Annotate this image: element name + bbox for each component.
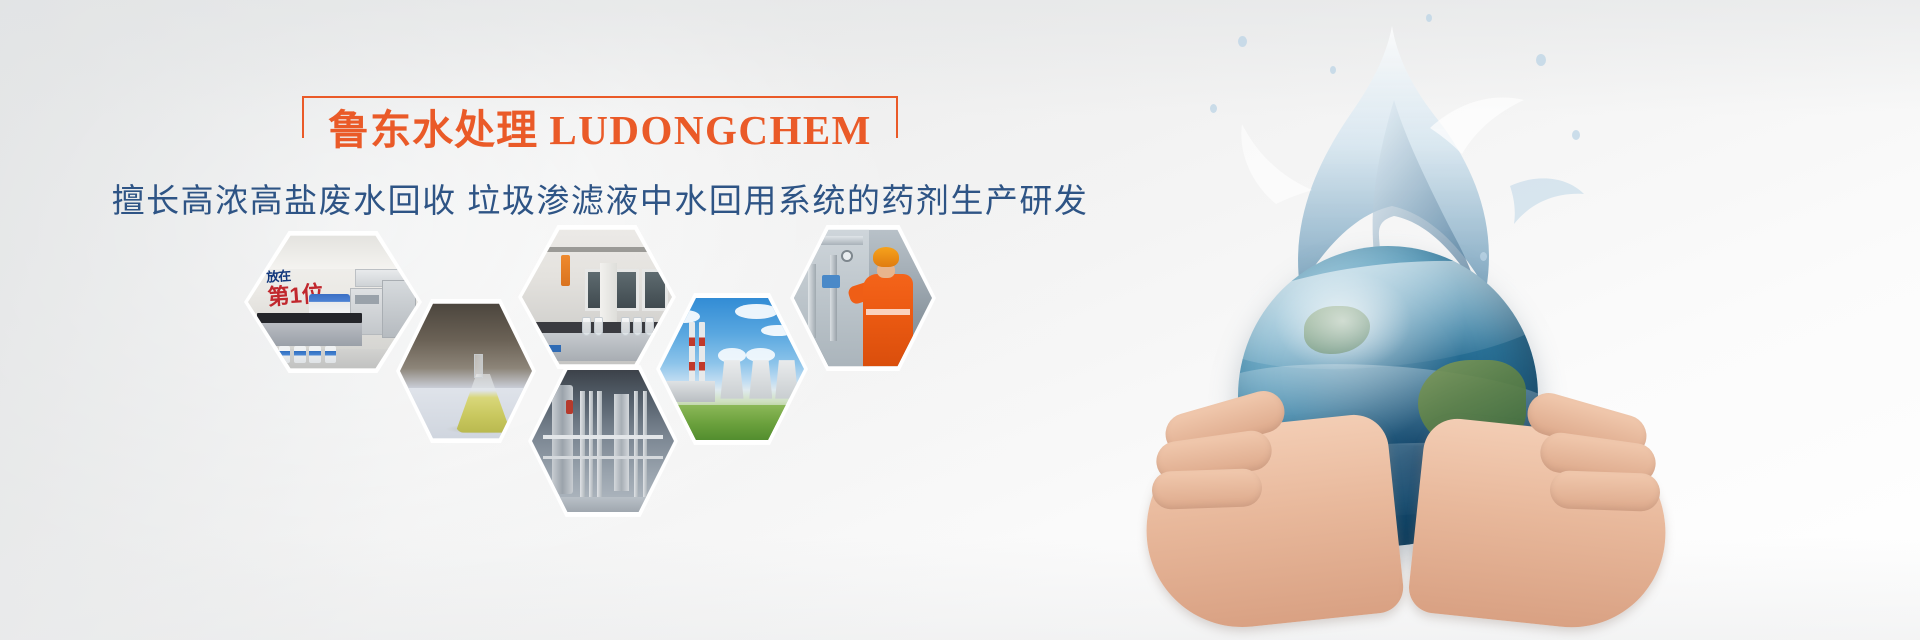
hex-lab-slogan-inner: 放在 第1位 (248, 233, 418, 371)
pipes-rail-lower (543, 456, 662, 460)
pipe-run (643, 391, 647, 498)
pipe-run (580, 391, 584, 498)
worker-pipe-horizontal (802, 236, 863, 246)
lab-jug (279, 346, 291, 363)
worker-reflective-stripe (866, 309, 910, 315)
pipe-run (597, 391, 601, 498)
worker-coverall (863, 274, 913, 369)
lab2-blue-cabinet (531, 345, 561, 352)
lab-bench-top (257, 313, 362, 323)
hex-lab-slogan-photo: 放在 第1位 (248, 233, 418, 371)
pipe-run (634, 391, 638, 498)
lab-ceiling (248, 233, 418, 269)
water-droplet (1536, 54, 1546, 66)
lab2-window (642, 269, 668, 311)
worker-safety-helmet (873, 247, 899, 267)
right-finger (1549, 470, 1660, 512)
hex-worker-photo (794, 227, 932, 369)
water-droplet (1330, 66, 1336, 74)
plant-building (666, 381, 715, 402)
worker-pipe-vertical (808, 264, 816, 338)
water-droplet (1572, 130, 1580, 140)
lab2-window (614, 269, 640, 311)
worker-pipe-vertical (830, 255, 837, 340)
hex-power-plant-inner (660, 295, 804, 443)
hex-lab-glass[interactable] (518, 222, 676, 372)
title-chinese: 鲁东水处理 (328, 107, 538, 153)
hex-pipes-inner (532, 367, 674, 515)
cooling-tower (749, 360, 772, 398)
water-droplet (1426, 14, 1432, 22)
hero-banner: 鲁东水处理 LUDONGCHEM 擅长高浓高盐废水回收 垃圾渗滤液中水回用系统的… (0, 0, 1920, 640)
cooling-tower (720, 360, 743, 398)
water-droplet (1238, 36, 1247, 47)
lab-jug (309, 346, 321, 363)
hex-flask-inner (400, 301, 532, 441)
hex-lab-slogan[interactable]: 放在 第1位 (244, 228, 422, 376)
pipe-run (589, 391, 593, 498)
hands-holding-globe (1146, 398, 1666, 640)
hex-worker[interactable] (790, 222, 936, 374)
plant-cloud (761, 325, 796, 337)
plant-green-field (660, 405, 804, 443)
hex-worker-inner (794, 227, 932, 369)
title-english: LUDONGCHEM (549, 107, 872, 153)
hex-power-plant-photo (660, 295, 804, 443)
globe-highlight (1274, 270, 1412, 372)
pipes-rail-upper (543, 435, 662, 439)
pipes-red-valve (566, 400, 573, 415)
plant-cloud (735, 304, 778, 319)
worker-blue-valve (822, 275, 840, 288)
lab2-orange-stand (561, 255, 570, 286)
plant-steam (746, 348, 775, 361)
hex-lab-glass-inner (522, 227, 672, 367)
cooling-tower (775, 360, 798, 398)
title-top-rule (324, 96, 876, 98)
lab2-ceiling-beam (522, 247, 672, 253)
banner-subtitle: 擅长高浓高盐废水回收 垃圾渗滤液中水回用系统的药剂生产研发 (0, 174, 1200, 222)
lab2-glassware (645, 317, 654, 337)
lab2-glassware (633, 317, 642, 337)
hex-flask[interactable] (396, 296, 536, 446)
lab2-glassware (594, 317, 603, 337)
lab-bench-base (257, 323, 362, 346)
flask-neck (474, 354, 483, 378)
water-droplet (1480, 252, 1487, 261)
lab-cabinet-2 (382, 280, 416, 338)
banner-text-block: 鲁东水处理 LUDONGCHEM 擅长高浓高盐废水回收 垃圾渗滤液中水回用系统的… (0, 96, 1200, 222)
lab2-glassware (621, 317, 630, 337)
page-title: 鲁东水处理 LUDONGCHEM (328, 102, 872, 156)
hex-flask-photo (400, 301, 532, 441)
hex-power-plant[interactable] (656, 290, 808, 448)
left-finger (1151, 468, 1262, 510)
pipes-tank-2 (614, 394, 628, 492)
lab-jug (294, 346, 306, 363)
hex-pipes[interactable] (528, 362, 678, 520)
lab-jug (325, 346, 337, 363)
plant-cloud (669, 310, 701, 323)
lab2-glassware (582, 317, 591, 337)
water-droplet (1210, 104, 1217, 113)
hex-lab-glass-photo (522, 227, 672, 367)
title-frame: 鲁东水处理 LUDONGCHEM (302, 96, 898, 158)
pipes-ground (532, 497, 674, 515)
hex-pipes-photo (532, 367, 674, 515)
